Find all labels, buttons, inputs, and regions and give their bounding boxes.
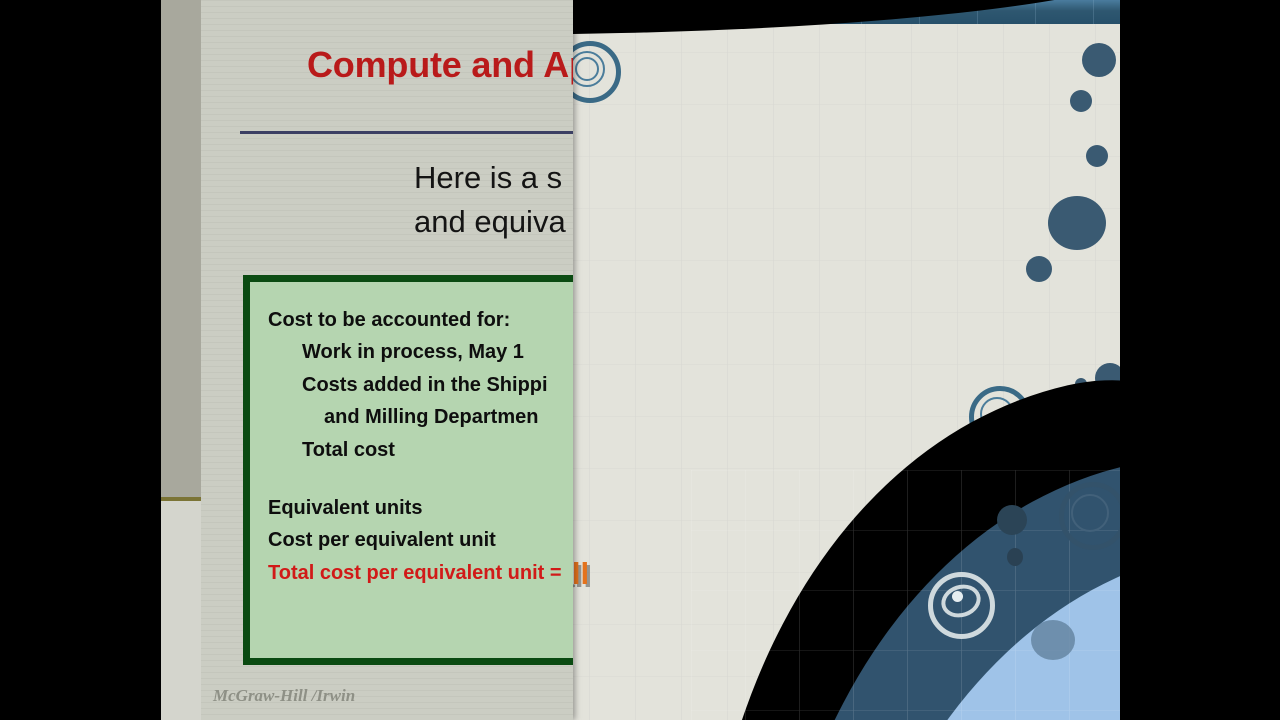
decorative-ring-inner2-icon	[575, 57, 599, 81]
table-row: and Milling Departmen	[268, 401, 573, 433]
title-slide-author: nnie Paschall	[551, 556, 1031, 592]
table-row: Work in process, May 1	[268, 336, 573, 368]
window-left-gutter-lower	[161, 500, 201, 720]
content-slide-title: Compute and Ap	[307, 44, 573, 86]
table-row: Equivalent units	[268, 492, 573, 524]
decorative-dot-icon	[1031, 620, 1075, 660]
cost-table-rows: Cost to be accounted for:Work in process…	[250, 282, 573, 658]
table-row: Cost to be accounted for:	[268, 304, 573, 336]
content-slide-body: Here is a s and equiva	[414, 156, 573, 244]
decorative-dot-icon	[1082, 43, 1116, 77]
table-row-spacer	[268, 466, 573, 492]
title-slide-heading: g Equivalent Units osts – Part 2	[551, 242, 1063, 370]
decorative-dot-icon	[1086, 145, 1108, 167]
body-line-2: and equiva	[414, 200, 573, 244]
publisher-footer: McGraw-Hill /Irwin	[213, 686, 355, 706]
front-presentation-window[interactable]: Compute and Ap Here is a s and equiva Co…	[161, 0, 573, 720]
decorative-ring-inner-icon	[1071, 494, 1109, 532]
back-presentation-window[interactable]: g Equivalent Units osts – Part 2 nnie Pa…	[551, 0, 1120, 720]
table-row: Cost per equivalent unit	[268, 524, 573, 556]
table-row: Costs added in the Shippi	[268, 369, 573, 401]
screenshot-canvas: g Equivalent Units osts – Part 2 nnie Pa…	[0, 0, 1280, 720]
content-slide: Compute and Ap Here is a s and equiva Co…	[201, 0, 573, 720]
decorative-dot-icon	[952, 591, 963, 602]
title-slide: g Equivalent Units osts – Part 2 nnie Pa…	[551, 0, 1120, 720]
body-line-1: Here is a s	[414, 156, 573, 200]
decorative-dot-icon	[997, 505, 1027, 535]
table-row: Total cost per equivalent unit =	[268, 557, 573, 589]
table-row: Total cost	[268, 434, 573, 466]
cost-table: Cost to be accounted for:Work in process…	[243, 275, 573, 665]
wave-grid-texture	[691, 470, 1120, 720]
window-left-gutter	[161, 0, 201, 500]
decorative-dot-icon	[1070, 90, 1092, 112]
title-line-2: osts – Part 2	[551, 306, 1063, 370]
olive-divider	[161, 497, 202, 501]
title-underline-rule	[240, 131, 573, 134]
title-line-1: g Equivalent Units	[551, 242, 1063, 306]
